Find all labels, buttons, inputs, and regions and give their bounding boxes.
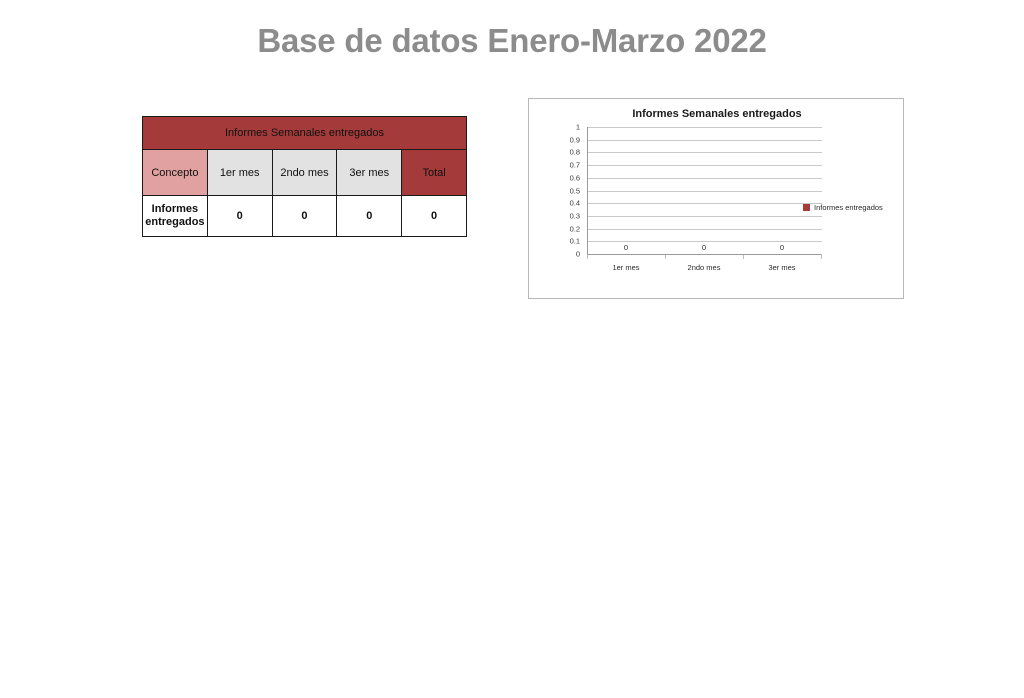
chart-gridline: [588, 216, 822, 217]
table-col-header-concepto: Concepto: [143, 150, 208, 196]
bar-data-label: 0: [624, 243, 628, 252]
y-axis-tick-label: 0.3: [570, 211, 580, 220]
table-cell-2ndo-mes: 0: [272, 196, 337, 237]
chart-gridline: [588, 191, 822, 192]
data-table: Informes Semanales entregados Concepto 1…: [142, 116, 467, 237]
y-axis-tick-label: 0.5: [570, 186, 580, 195]
table-row-label-line1: Informes: [152, 203, 198, 215]
chart-y-axis: 10.90.80.70.60.50.40.30.20.10: [557, 127, 583, 254]
chart-gridline: [588, 229, 822, 230]
chart-plot-wrap: 10.90.80.70.60.50.40.30.20.10 1er mes02n…: [557, 127, 823, 277]
x-axis-category-label: 1er mes: [612, 263, 639, 272]
x-axis-tick: [665, 255, 666, 259]
table-cell-1er-mes: 0: [207, 196, 272, 237]
chart-gridline: [588, 165, 822, 166]
y-axis-tick-label: 0.4: [570, 199, 580, 208]
y-axis-tick-label: 0.7: [570, 161, 580, 170]
table-row-label-line2: entregados: [145, 216, 204, 228]
y-axis-tick-label: 0.1: [570, 237, 580, 246]
table-col-header-2ndo-mes: 2ndo mes: [272, 150, 337, 196]
y-axis-tick-label: 0: [576, 250, 580, 259]
y-axis-tick-label: 0.6: [570, 173, 580, 182]
table-header-row: Concepto 1er mes 2ndo mes 3er mes Total: [143, 150, 467, 196]
table-col-header-1er-mes: 1er mes: [207, 150, 272, 196]
table-row-label: Informes entregados: [143, 196, 208, 237]
chart-legend: Informes entregados: [803, 203, 883, 212]
chart-plot-area: [587, 127, 821, 254]
x-axis-tick: [587, 255, 588, 259]
x-axis-category-label: 3er mes: [768, 263, 795, 272]
y-axis-tick-label: 0.8: [570, 148, 580, 157]
page-title: Base de datos Enero-Marzo 2022: [0, 22, 1024, 60]
chart-gridline: [588, 140, 822, 141]
legend-swatch-icon: [803, 204, 810, 211]
table-merged-header: Informes Semanales entregados: [143, 117, 467, 150]
bar-data-label: 0: [702, 243, 706, 252]
y-axis-tick-label: 0.9: [570, 135, 580, 144]
table-cell-total: 0: [402, 196, 467, 237]
chart-gridline: [588, 178, 822, 179]
chart-title: Informes Semanales entregados: [529, 108, 905, 120]
chart-x-axis-line: [587, 254, 821, 255]
legend-label: Informes entregados: [814, 203, 883, 212]
y-axis-tick-label: 0.2: [570, 224, 580, 233]
table-row: Informes entregados 0 0 0 0: [143, 196, 467, 237]
table-header-merged-row: Informes Semanales entregados: [143, 117, 467, 150]
y-axis-tick-label: 1: [576, 123, 580, 132]
chart-gridline: [588, 203, 822, 204]
table-cell-3er-mes: 0: [337, 196, 402, 237]
table-col-header-total: Total: [402, 150, 467, 196]
x-axis-category-label: 2ndo mes: [688, 263, 721, 272]
x-axis-tick: [821, 255, 822, 259]
chart-panel: Informes Semanales entregados 10.90.80.7…: [528, 98, 904, 299]
chart-gridline: [588, 127, 822, 128]
chart-gridline: [588, 152, 822, 153]
x-axis-tick: [743, 255, 744, 259]
bar-data-label: 0: [780, 243, 784, 252]
table-col-header-3er-mes: 3er mes: [337, 150, 402, 196]
